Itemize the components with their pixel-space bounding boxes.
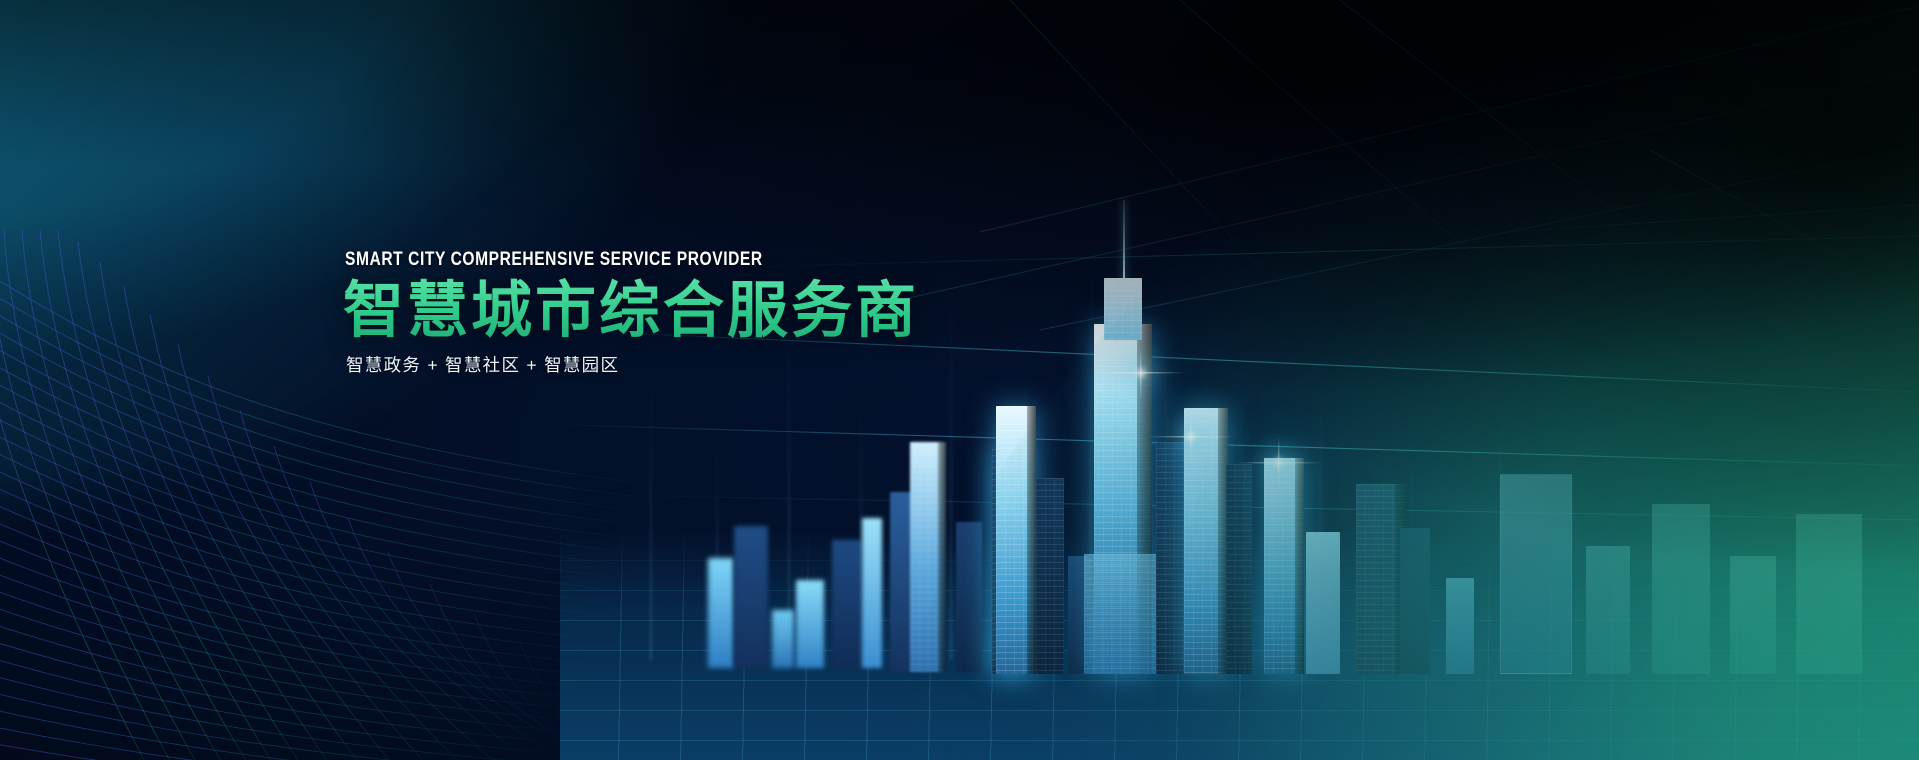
subtitle-text: 智慧政务 + 智慧社区 + 智慧园区 bbox=[346, 357, 919, 375]
eyebrow-text: SMART CITY COMPREHENSIVE SERVICE PROVIDE… bbox=[345, 250, 816, 269]
page-title: 智慧城市综合服务商 bbox=[343, 278, 919, 344]
smart-city-hero-banner: SMART CITY COMPREHENSIVE SERVICE PROVIDE… bbox=[0, 0, 1919, 760]
hero-copy: SMART CITY COMPREHENSIVE SERVICE PROVIDE… bbox=[343, 250, 919, 374]
